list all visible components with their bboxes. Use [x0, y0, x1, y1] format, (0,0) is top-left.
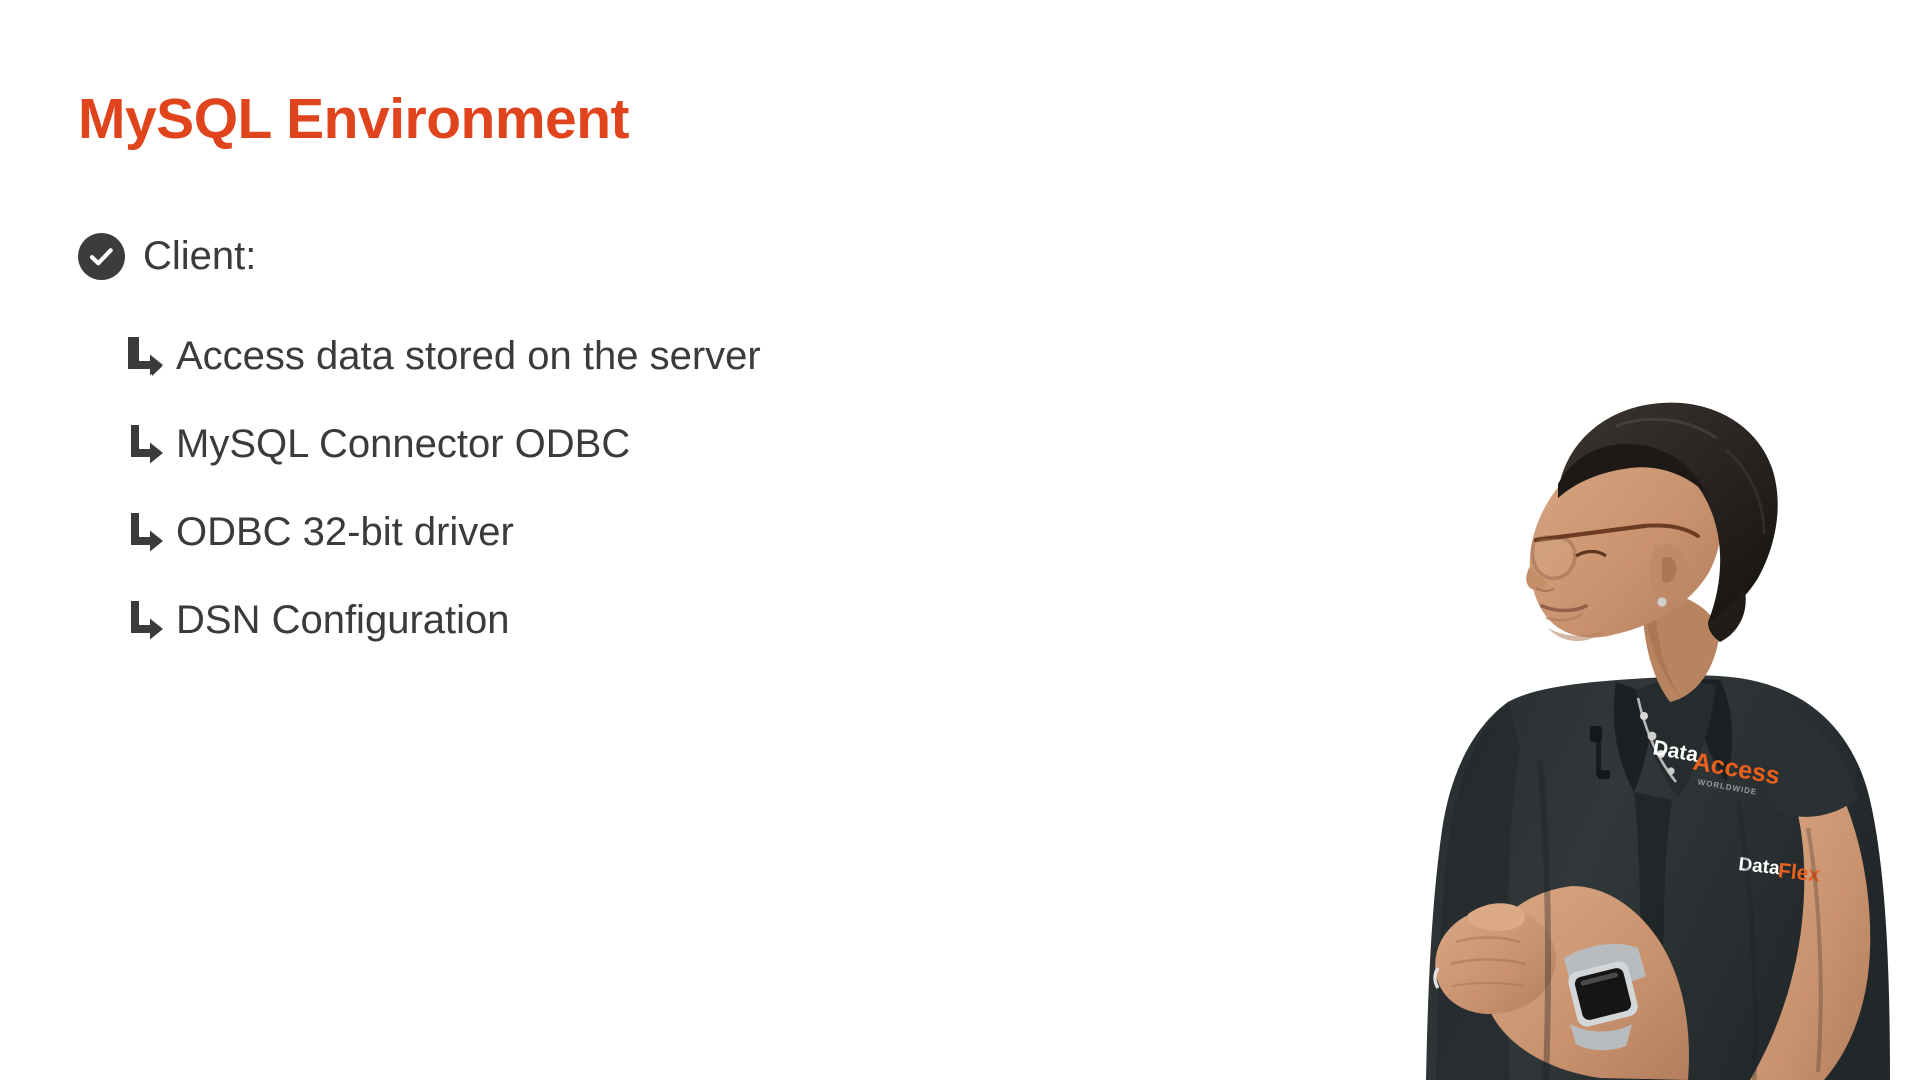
presenter-video-overlay: Data Access WORLDWIDE Data Flex: [1420, 330, 1920, 1080]
list-item-label: Client:: [143, 236, 256, 276]
list-item-mysql-connector-odbc: MySQL Connector ODBC: [128, 400, 1178, 488]
list-item-client: Client:: [78, 228, 1178, 284]
arrow-down-right-icon: [128, 509, 168, 555]
list-item-label: DSN Configuration: [176, 600, 510, 640]
arrow-down-right-icon: [128, 421, 168, 467]
sub-bullet-list: Access data stored on the server MySQL C…: [128, 312, 1178, 664]
check-circle-icon: [78, 233, 125, 280]
arrow-down-right-icon: [128, 333, 168, 379]
slide-canvas: MySQL Environment Client:: [0, 0, 1920, 1080]
list-item-label: ODBC 32-bit driver: [176, 512, 514, 552]
arrow-down-right-icon: [128, 597, 168, 643]
list-item-label: MySQL Connector ODBC: [176, 424, 630, 464]
page-title: MySQL Environment: [78, 86, 629, 152]
bullet-list: Client: Access data stored on the server: [78, 228, 1178, 664]
list-item-access-data: Access data stored on the server: [128, 312, 1178, 400]
list-item-label: Access data stored on the server: [176, 336, 761, 376]
list-item-odbc-32-bit-driver: ODBC 32-bit driver: [128, 488, 1178, 576]
list-item-dsn-configuration: DSN Configuration: [128, 576, 1178, 664]
